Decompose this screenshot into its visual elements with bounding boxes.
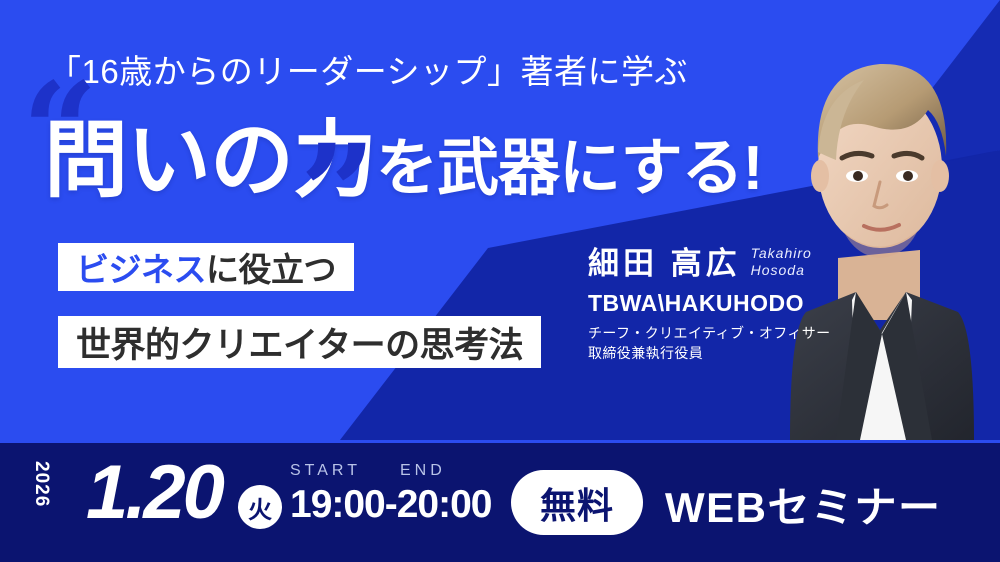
- subtitle-box-2: 世界的クリエイターの思考法: [58, 316, 541, 368]
- label-start: START: [290, 462, 400, 480]
- kicker-text: 「16歳からのリーダーシップ」著者に学ぶ: [48, 54, 688, 90]
- format-label: WEBセミナー: [665, 474, 942, 535]
- label-end: END: [400, 462, 446, 480]
- price-badge: 無料: [511, 470, 643, 535]
- quote-close-icon: ”: [300, 128, 376, 260]
- speaker-role: チーフ・クリエイティブ・オフィサー 取締役兼執行役員: [588, 323, 831, 364]
- speaker-name-en-line1: Takahiro: [751, 245, 812, 262]
- subtitle-box-1: ビジネスに役立つ: [58, 243, 354, 291]
- speaker-name-row: 細田 高広 Takahiro Hosoda: [588, 245, 831, 281]
- speaker-role-line2: 取締役兼執行役員: [588, 343, 831, 363]
- event-date: 1.20: [86, 455, 222, 531]
- headline-emphasis: 問いの力: [44, 113, 376, 207]
- speaker-photo: [760, 0, 1000, 440]
- footer-top-rule: [0, 440, 1000, 443]
- main-headline: 問いの力を武器にする!: [44, 118, 762, 202]
- event-time-range: 19:00-20:00: [290, 484, 491, 527]
- quote-open-icon: “: [22, 66, 98, 198]
- weekday-badge: 火: [238, 485, 282, 529]
- seminar-banner: “ 「16歳からのリーダーシップ」著者に学ぶ ” 問いの力を武器にする! ビジネ…: [0, 0, 1000, 562]
- speaker-role-line1: チーフ・クリエイティブ・オフィサー: [588, 323, 831, 343]
- speaker-name-en-line2: Hosoda: [751, 262, 812, 279]
- headline-rest: を武器にする!: [376, 134, 762, 203]
- speaker-name-ja: 細田 高広: [588, 247, 741, 281]
- speaker-name-en: Takahiro Hosoda: [751, 245, 812, 281]
- speaker-company: TBWA\HAKUHODO: [588, 290, 831, 317]
- speaker-portrait-illustration: [760, 0, 1000, 440]
- time-labels: START END: [290, 462, 491, 480]
- subtitle-2-text: 世界的クリエイターの思考法: [76, 317, 523, 368]
- speaker-info: 細田 高広 Takahiro Hosoda TBWA\HAKUHODO チーフ・…: [588, 245, 831, 363]
- event-time-block: START END 19:00-20:00: [290, 462, 491, 527]
- subtitle-1-rest: に役立つ: [206, 243, 336, 291]
- subtitle-1-accent: ビジネス: [76, 243, 206, 291]
- event-year: 2026: [30, 461, 52, 507]
